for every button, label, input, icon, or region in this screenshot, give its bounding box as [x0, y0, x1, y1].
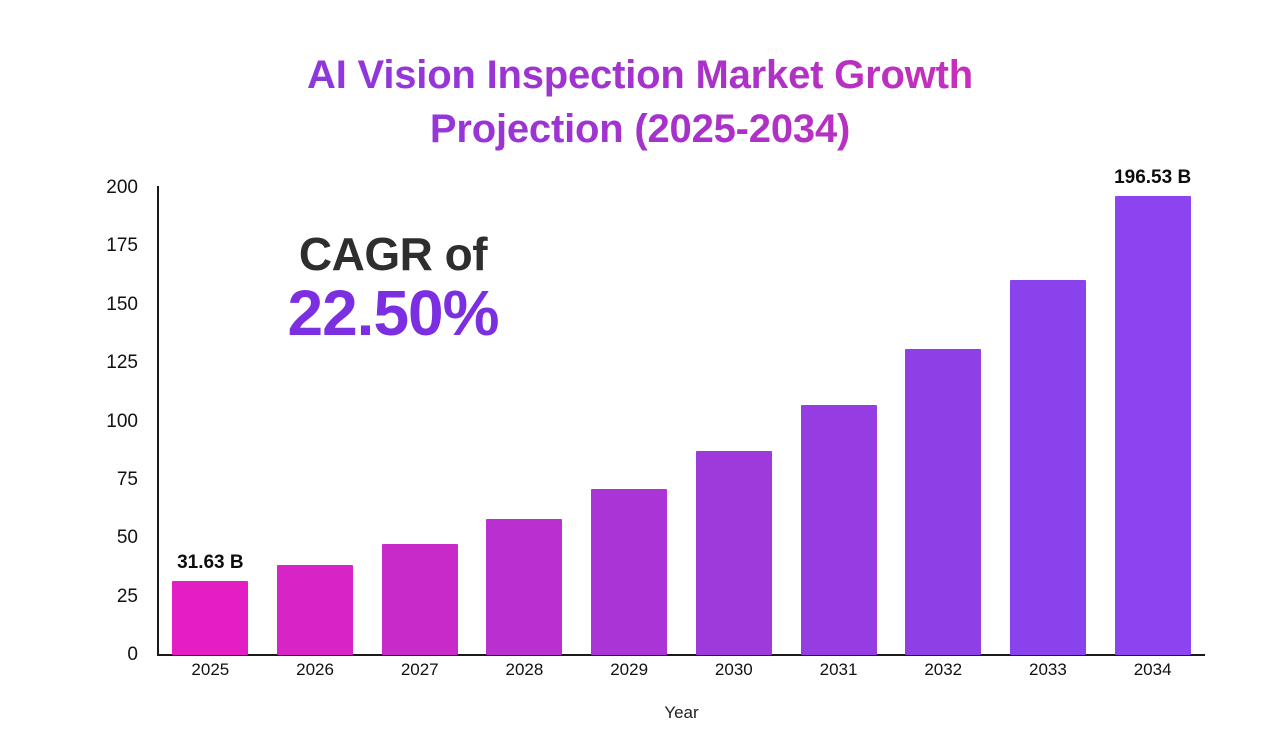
bar-value-label-2034: 196.53 B [1114, 167, 1191, 189]
x-axis-tick-label-2027: 2027 [367, 660, 472, 680]
y-axis-tick-label: 175 [0, 235, 148, 257]
x-axis-tick-label-2028: 2028 [472, 660, 577, 680]
chart-title: AI Vision Inspection Market Growth Proje… [0, 48, 1280, 156]
x-axis-tick-label-2034: 2034 [1100, 660, 1205, 680]
bar-slot [591, 188, 667, 655]
bar-slot: 31.63 B [172, 188, 248, 655]
bar-2034[interactable] [1115, 196, 1191, 655]
y-axis-tick-labels: 0255075100125150175200 [0, 0, 148, 752]
x-axis-tick-label-2031: 2031 [786, 660, 891, 680]
x-axis-tick-label-2030: 2030 [682, 660, 787, 680]
y-axis-tick-label: 0 [0, 644, 148, 666]
bar-slot [801, 188, 877, 655]
bar-2026[interactable] [277, 565, 353, 655]
bar-slot [486, 188, 562, 655]
bar-2028[interactable] [486, 519, 562, 655]
y-axis-tick-label: 200 [0, 177, 148, 199]
x-axis-tick-label-2026: 2026 [263, 660, 368, 680]
bar-2033[interactable] [1010, 280, 1086, 655]
bar-slot [905, 188, 981, 655]
x-axis-tick-label-2029: 2029 [577, 660, 682, 680]
bar-2031[interactable] [801, 405, 877, 655]
y-axis-tick-label: 25 [0, 586, 148, 608]
y-axis-tick-label: 100 [0, 411, 148, 433]
bar-2030[interactable] [696, 451, 772, 655]
bar-slot [696, 188, 772, 655]
bar-slot [1010, 188, 1086, 655]
bar-2032[interactable] [905, 349, 981, 655]
bar-slot: 196.53 B [1115, 188, 1191, 655]
y-axis-tick-label: 150 [0, 294, 148, 316]
bar-2025[interactable] [172, 581, 248, 655]
bar-slot [382, 188, 458, 655]
bar-2029[interactable] [591, 489, 667, 655]
y-axis-tick-label: 125 [0, 352, 148, 374]
y-axis-tick-label: 50 [0, 527, 148, 549]
bar-series: 31.63 B196.53 B [158, 188, 1205, 655]
x-axis-tick-labels: 2025202620272028202920302031203220332034 [158, 660, 1205, 690]
y-axis-tick-label: 75 [0, 469, 148, 491]
bar-slot [277, 188, 353, 655]
x-axis-title: Year [158, 703, 1205, 723]
x-axis-tick-label-2033: 2033 [996, 660, 1101, 680]
bar-value-label-2025: 31.63 B [177, 552, 244, 574]
x-axis-tick-label-2025: 2025 [158, 660, 263, 680]
x-axis-tick-label-2032: 2032 [891, 660, 996, 680]
bar-2027[interactable] [382, 544, 458, 655]
